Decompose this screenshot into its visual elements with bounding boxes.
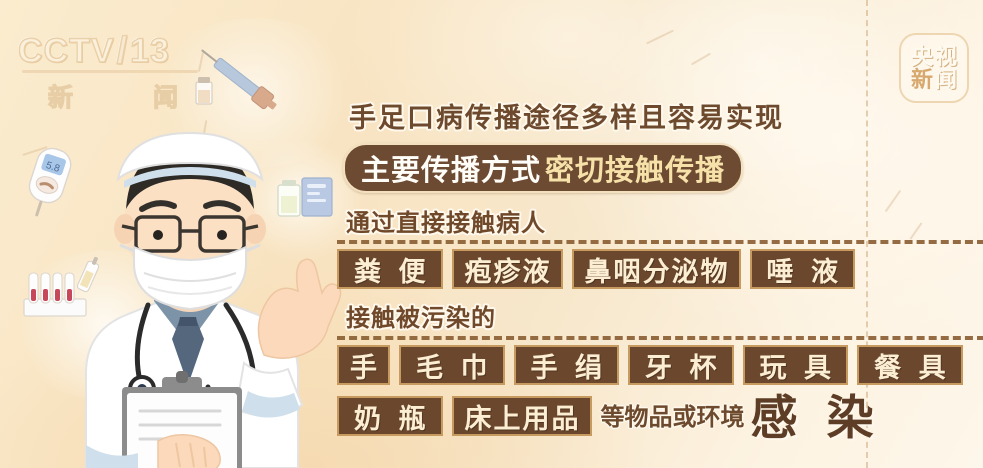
chip-item[interactable]: 奶 瓶 <box>337 396 443 436</box>
infographic-canvas: CCTV / 13 新 闻 央 视 新 闻 5.8 <box>0 0 983 468</box>
cctv-channel-number: 13 <box>130 32 170 71</box>
chip-item[interactable]: 疱疹液 <box>452 249 563 289</box>
cctv13-logo: CCTV / 13 新 闻 <box>18 30 203 110</box>
chip-item[interactable]: 手 <box>337 345 390 385</box>
infection-emphasis-text: 感 染 <box>751 396 882 440</box>
doctor-illustration <box>30 105 350 468</box>
main-transmission-pill: 主要传播方式 密切接触传播 <box>343 143 743 193</box>
cctv-logo-wordmark: CCTV / 13 <box>18 30 203 73</box>
dashed-rule <box>337 240 983 244</box>
chip-item[interactable]: 餐 具 <box>857 345 963 385</box>
chip-item[interactable]: 手 绢 <box>514 345 620 385</box>
cctv-slash-glyph: / <box>117 30 129 73</box>
chip-item[interactable]: 唾 液 <box>750 249 856 289</box>
chip-item[interactable]: 毛 巾 <box>399 345 505 385</box>
chip-item[interactable]: 牙 杯 <box>628 345 734 385</box>
content-column: 手足口病传播途径多样且容易实现 主要传播方式 密切接触传播 通过直接接触病人 粪… <box>333 0 983 468</box>
bottom-accent-bar <box>334 437 854 448</box>
headline-text: 手足口病传播途径多样且容易实现 <box>349 96 784 135</box>
cctv-brand-text: CCTV <box>18 32 115 71</box>
chip-item[interactable]: 床上用品 <box>452 396 592 436</box>
dashed-rule <box>337 336 983 340</box>
pill-prefix-text: 主要传播方式 <box>361 147 541 189</box>
chip-row-body-fluids: 粪 便 疱疹液 鼻咽分泌物 唾 液 <box>337 249 864 289</box>
doctor-waving-hand <box>258 259 340 358</box>
chip-row-objects-a: 手 毛 巾 手 绢 牙 杯 玩 具 餐 具 <box>337 345 972 385</box>
chip-item[interactable]: 粪 便 <box>337 249 443 289</box>
chip-item[interactable]: 玩 具 <box>743 345 849 385</box>
section-label-direct-contact: 通过直接接触病人 <box>346 203 546 238</box>
chip-item[interactable]: 鼻咽分泌物 <box>572 249 741 289</box>
cctv-logo-underline <box>22 70 198 73</box>
chip-row-objects-b: 奶 瓶 床上用品 等物品或环境 感 染 <box>337 396 882 440</box>
section-label-contaminated: 接触被污染的 <box>346 298 496 333</box>
tail-note-text: 等物品或环境 <box>601 398 745 438</box>
pill-highlight-text: 密切接触传播 <box>545 147 725 189</box>
